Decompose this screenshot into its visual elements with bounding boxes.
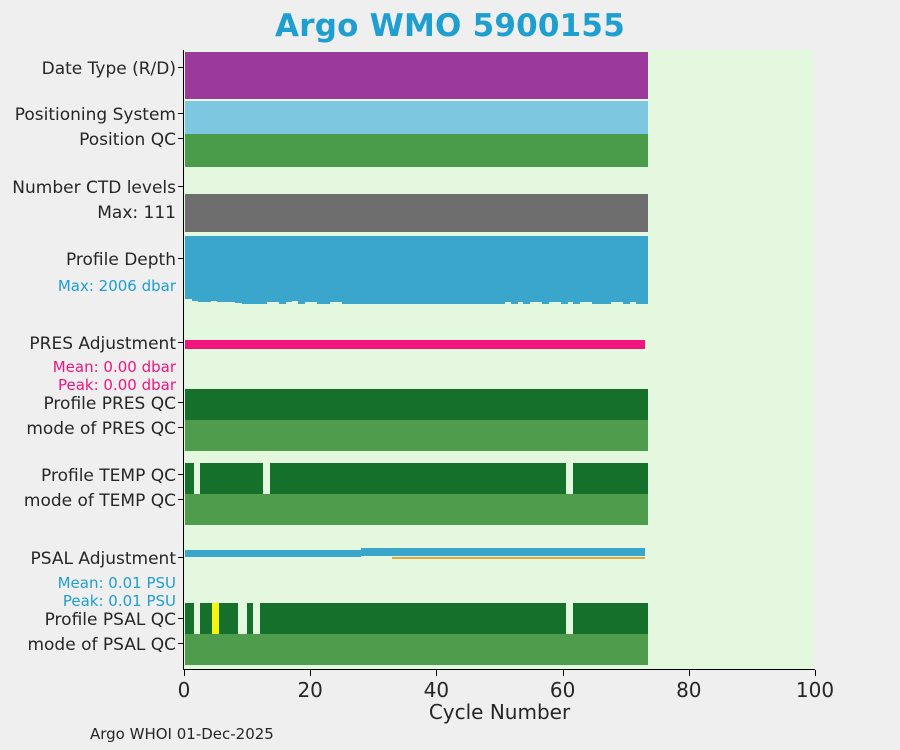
x-tick-label: 100	[775, 678, 855, 702]
argo-float-summary-figure: Argo WMO 5900155 020406080100 Date Type …	[0, 0, 900, 750]
depth-column	[642, 236, 648, 304]
y-tick-mark	[178, 618, 184, 619]
y-tick-mark	[178, 557, 184, 558]
bar-profile-temp-qc-segment-1	[200, 463, 263, 494]
x-axis-spine	[184, 669, 815, 670]
bar-profile-pres-qc	[185, 389, 648, 420]
bar-profile-depth	[185, 236, 648, 304]
x-axis-title: Cycle Number	[184, 700, 815, 724]
x-tick-label: 80	[649, 678, 729, 702]
y-tick-mark	[178, 474, 184, 475]
y-label-psal-adjustment: PSAL Adjustment	[31, 551, 176, 568]
bar-profile-temp-qc-segment-3	[573, 463, 649, 494]
y-tick-mark	[178, 643, 184, 644]
bar-profile-psal-qc-segment-1	[200, 603, 211, 634]
x-tick-mark	[815, 670, 816, 676]
bar-mode-of-psal-qc	[185, 634, 648, 665]
x-tick-label: 40	[396, 678, 476, 702]
x-tick-mark	[184, 670, 185, 676]
y-label-profile-temp-qc: Profile TEMP QC	[41, 468, 176, 485]
y-tick-mark	[178, 499, 184, 500]
line-psal-adjustment-post	[361, 548, 645, 556]
bar-profile-psal-qc-segment-3	[247, 603, 253, 634]
line-psal-adjustment-pre	[185, 550, 360, 557]
bar-position-qc	[185, 134, 648, 167]
x-tick-label: 0	[144, 678, 224, 702]
y-label-psal-adjustment-note2: Peak: 0.01 PSU	[63, 594, 176, 609]
x-tick-label: 20	[270, 678, 350, 702]
page-title: Argo WMO 5900155	[0, 8, 900, 44]
y-label-pres-adjustment: PRES Adjustment	[29, 336, 176, 353]
y-label-psal-adjustment-note1: Mean: 0.01 PSU	[58, 576, 176, 591]
y-tick-mark	[178, 138, 184, 139]
y-label-profile-psal-qc: Profile PSAL QC	[45, 612, 176, 629]
y-tick-mark	[178, 342, 184, 343]
y-tick-mark	[178, 402, 184, 403]
x-tick-mark	[310, 670, 311, 676]
bar-profile-temp-qc-segment-2	[270, 463, 567, 494]
y-label-mode-of-temp-qc: mode of TEMP QC	[24, 493, 176, 510]
bar-mode-of-temp-qc	[185, 494, 648, 525]
y-label-position-qc: Position QC	[79, 132, 176, 149]
bar-profile-psal-qc-flag-0	[212, 603, 220, 634]
y-label-number-ctd-levels: Number CTD levels	[12, 180, 176, 197]
y-label-mode-of-psal-qc: mode of PSAL QC	[27, 637, 176, 654]
footer-credit: Argo WHOI 01-Dec-2025	[90, 725, 274, 743]
y-label-date-type: Date Type (R/D)	[42, 61, 176, 78]
y-label-profile-depth-note1: Max: 2006 dbar	[58, 279, 176, 294]
x-tick-label: 60	[523, 678, 603, 702]
y-tick-mark	[178, 113, 184, 114]
bar-profile-psal-qc-segment-4	[260, 603, 567, 634]
y-axis-spine	[183, 50, 184, 670]
y-label-pres-adjustment-note2: Peak: 0.00 dbar	[58, 378, 176, 393]
bar-number-ctd-levels	[185, 194, 648, 232]
line-pres-adjustment	[185, 340, 644, 349]
x-tick-mark	[689, 670, 690, 676]
y-label-mode-of-pres-qc: mode of PRES QC	[26, 421, 176, 438]
bar-mode-of-pres-qc	[185, 420, 648, 451]
y-label-pres-adjustment-note1: Mean: 0.00 dbar	[53, 360, 176, 375]
y-tick-mark	[178, 186, 184, 187]
y-tick-mark	[178, 67, 184, 68]
y-label-number-ctd-levels-note1: Max: 111	[97, 205, 176, 222]
bar-profile-psal-qc-segment-0	[185, 603, 194, 634]
bar-profile-psal-qc-segment-2	[219, 603, 238, 634]
bar-date-type	[185, 52, 648, 99]
y-label-positioning-system: Positioning System	[15, 107, 176, 124]
y-tick-mark	[178, 427, 184, 428]
x-tick-mark	[436, 670, 437, 676]
bar-positioning-system	[185, 101, 648, 134]
bar-profile-temp-qc-segment-0	[185, 463, 194, 494]
bar-profile-psal-qc-segment-5	[573, 603, 649, 634]
line-psal-adjustment-alt	[392, 557, 644, 559]
x-tick-mark	[563, 670, 564, 676]
y-label-profile-depth: Profile Depth	[66, 252, 176, 269]
y-label-profile-pres-qc: Profile PRES QC	[43, 396, 176, 413]
y-tick-mark	[178, 258, 184, 259]
